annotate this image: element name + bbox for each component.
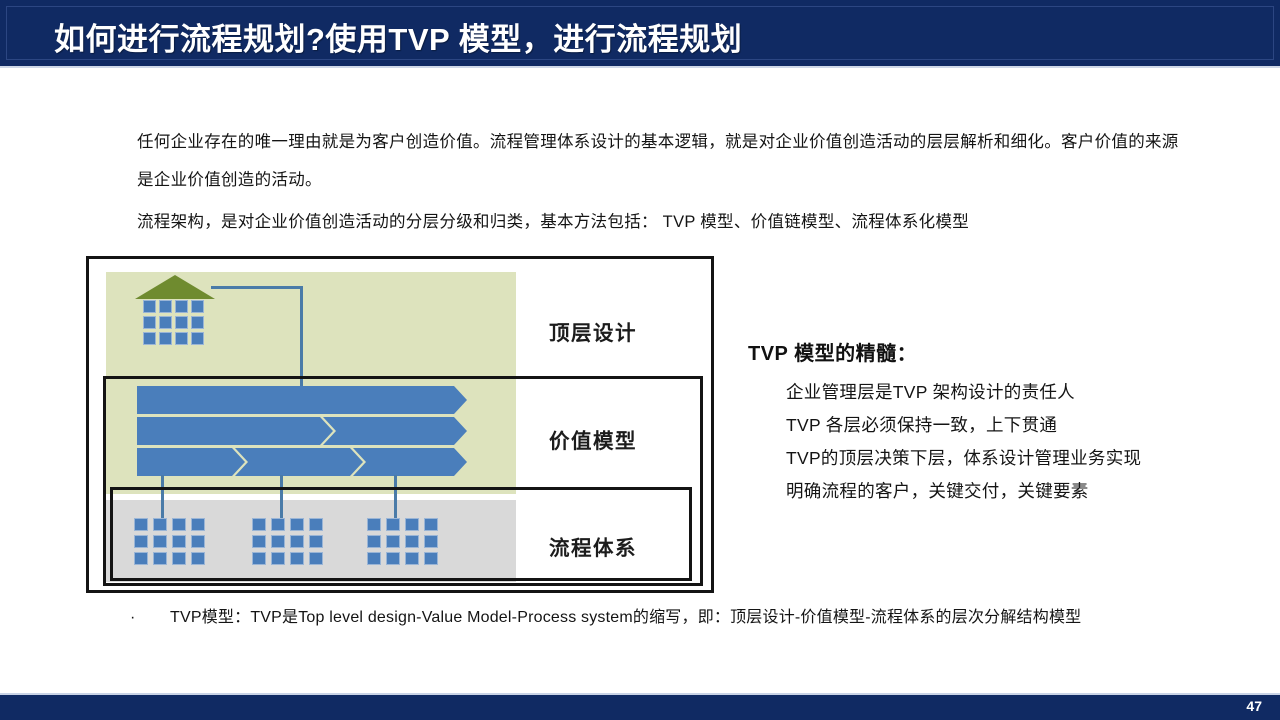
window-cell — [143, 300, 156, 313]
arrow-segment — [323, 417, 467, 445]
arrow-segment — [137, 386, 467, 414]
layer-label-process-system: 流程体系 — [549, 531, 637, 561]
window-cell — [175, 316, 188, 329]
grid-cell — [386, 535, 400, 548]
grid-cell — [290, 535, 304, 548]
grid-cell — [424, 552, 438, 565]
window-cell — [159, 300, 172, 313]
grid-cell — [153, 518, 167, 531]
grid-cell — [134, 535, 148, 548]
grid-cell — [191, 552, 205, 565]
arrow-segment — [353, 448, 467, 476]
tvp-essence-line: 明确流程的客户，关键交付，关键要素 — [748, 475, 1218, 508]
grid-cell — [367, 535, 381, 548]
body-paragraph-2: 流程架构，是对企业价值创造活动的分层分级和归类，基本方法包括： TVP 模型、价… — [137, 203, 1197, 241]
arrow-segment — [137, 417, 333, 445]
grid-cell — [290, 518, 304, 531]
arrow-row-3 — [137, 448, 467, 476]
grid-cell — [367, 518, 381, 531]
grid-cell — [309, 552, 323, 565]
window-cell — [191, 316, 204, 329]
tvp-essence-heading: TVP 模型的精髓： — [748, 337, 1218, 366]
grid-cell — [405, 518, 419, 531]
window-cell — [143, 332, 156, 345]
grid-cell — [153, 535, 167, 548]
arrow-segment — [235, 448, 363, 476]
grid-cell — [309, 518, 323, 531]
grid-cell — [172, 552, 186, 565]
layer-label-top-level-design: 顶层设计 — [549, 316, 637, 346]
building-icon — [135, 275, 215, 349]
window-cell — [191, 332, 204, 345]
grid-cell — [191, 518, 205, 531]
grid-cell — [271, 518, 285, 531]
window-cell — [159, 332, 172, 345]
grid-cell — [424, 518, 438, 531]
diagram-caption: · TVP模型：TVP是Top level design-Value Model… — [135, 604, 1095, 631]
grid-cell — [172, 535, 186, 548]
connector-line-horizontal — [211, 286, 303, 289]
process-square-grid — [134, 518, 205, 565]
arrow-row-2 — [137, 417, 467, 445]
layer-label-value-model: 价值模型 — [549, 424, 637, 454]
building-windows-grid — [143, 300, 207, 345]
grid-cell — [405, 552, 419, 565]
grid-cell — [386, 518, 400, 531]
grid-cell — [172, 518, 186, 531]
grid-cell — [252, 518, 266, 531]
tvp-essence-line: 企业管理层是TVP 架构设计的责任人 — [748, 376, 1218, 409]
grid-cell — [309, 535, 323, 548]
tvp-diagram: 顶层设计 价值模型 流程体系 — [86, 256, 714, 593]
grid-cell — [367, 552, 381, 565]
grid-cell — [290, 552, 304, 565]
tvp-essence-line: TVP的顶层决策下层，体系设计管理业务实现 — [748, 442, 1218, 475]
process-square-grid — [367, 518, 438, 565]
tvp-essence-block: TVP 模型的精髓： 企业管理层是TVP 架构设计的责任人 TVP 各层必须保持… — [748, 337, 1218, 508]
grid-cell — [271, 552, 285, 565]
caption-text: TVP模型：TVP是Top level design-Value Model-P… — [135, 604, 1095, 631]
grid-cell — [252, 535, 266, 548]
grid-cell — [134, 552, 148, 565]
grid-cell — [191, 535, 205, 548]
grid-cell — [271, 535, 285, 548]
slide-footer-bar: 47 — [0, 693, 1280, 720]
process-arrows — [137, 386, 467, 476]
connector-line-vertical — [300, 286, 303, 390]
tvp-essence-line: TVP 各层必须保持一致，上下贯通 — [748, 409, 1218, 442]
grid-cell — [252, 552, 266, 565]
window-cell — [175, 300, 188, 313]
slide-title-bar: 如何进行流程规划?使用TVP 模型，进行流程规划 — [0, 0, 1280, 68]
caption-bullet: · — [130, 604, 136, 631]
arrow-row-1 — [137, 386, 467, 414]
window-cell — [191, 300, 204, 313]
grid-cell — [405, 535, 419, 548]
process-square-grid — [252, 518, 323, 565]
page-title: 如何进行流程规划?使用TVP 模型，进行流程规划 — [54, 14, 742, 59]
grid-cell — [153, 552, 167, 565]
grid-cell — [134, 518, 148, 531]
window-cell — [143, 316, 156, 329]
grid-cell — [386, 552, 400, 565]
body-paragraph-1: 任何企业存在的唯一理由就是为客户创造价值。流程管理体系设计的基本逻辑，就是对企业… — [137, 123, 1192, 199]
grid-cell — [424, 535, 438, 548]
window-cell — [175, 332, 188, 345]
page-number: 47 — [1246, 698, 1262, 714]
window-cell — [159, 316, 172, 329]
arrow-segment — [137, 448, 245, 476]
building-roof-icon — [135, 275, 215, 299]
